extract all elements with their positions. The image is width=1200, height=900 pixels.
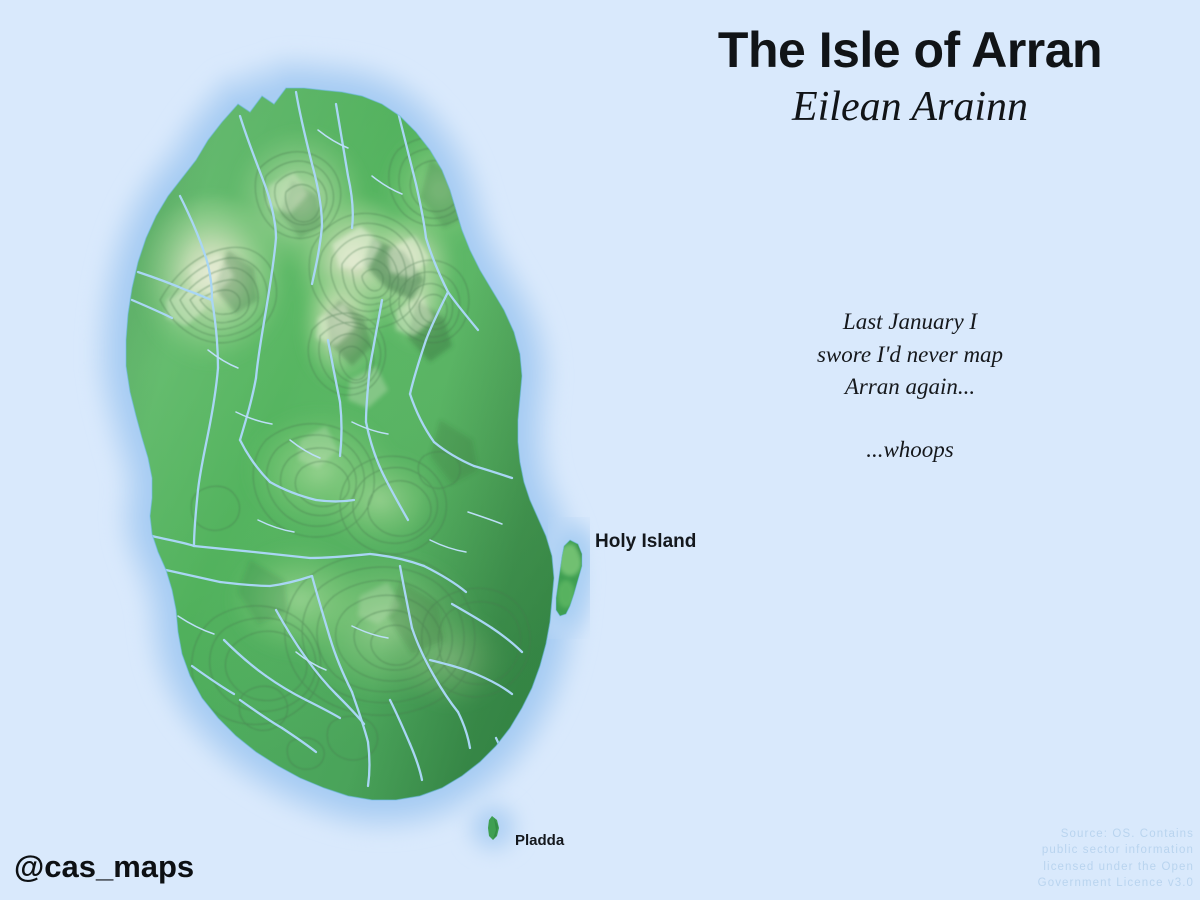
caption-line-2: swore I'd never map bbox=[700, 339, 1120, 372]
source-line-2: public sector information bbox=[774, 842, 1194, 858]
title-block: The Isle of Arran Eilean Arainn bbox=[640, 24, 1180, 133]
label-pladda: Pladda bbox=[515, 832, 564, 849]
caption-line-3: Arran again... bbox=[700, 371, 1120, 404]
source-line-4: Government Licence v3.0 bbox=[774, 875, 1194, 891]
caption-line-1: Last January I bbox=[700, 306, 1120, 339]
caption-line-4: ...whoops bbox=[700, 434, 1120, 467]
page-subtitle-gaelic: Eilean Arainn bbox=[640, 81, 1180, 134]
source-line-1: Source: OS. Contains bbox=[774, 826, 1194, 842]
page-title: The Isle of Arran bbox=[640, 24, 1180, 77]
caption-spacer bbox=[700, 404, 1120, 434]
caption-block: Last January I swore I'd never map Arran… bbox=[700, 306, 1120, 467]
label-holy-island: Holy Island bbox=[595, 531, 696, 553]
author-handle: @cas_maps bbox=[14, 849, 194, 885]
source-attribution: Source: OS. Contains public sector infor… bbox=[774, 826, 1194, 891]
map-poster: The Isle of Arran Eilean Arainn Last Jan… bbox=[0, 0, 1200, 900]
source-line-3: licensed under the Open bbox=[774, 859, 1194, 875]
